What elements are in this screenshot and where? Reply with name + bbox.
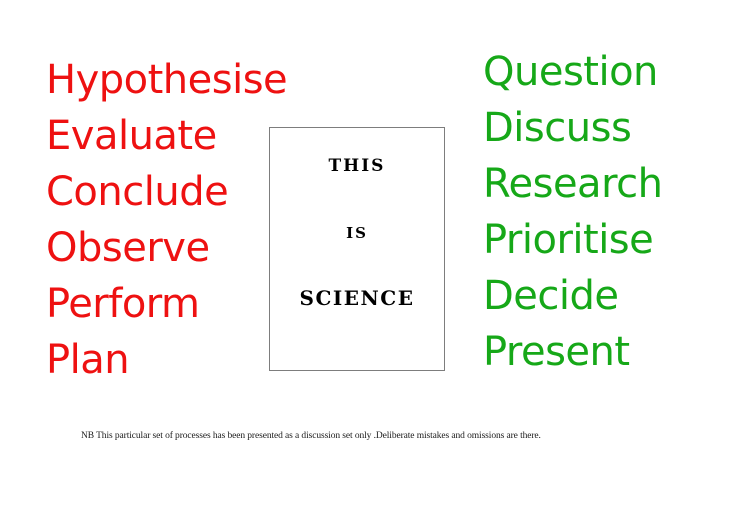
science-box-line-science: SCIENCE [270, 286, 444, 310]
process-word-prioritise: Prioritise [483, 212, 653, 268]
science-box-line-is: IS [270, 224, 444, 242]
process-word-conclude: Conclude [46, 164, 228, 220]
process-word-research: Research [483, 156, 662, 212]
process-word-evaluate: Evaluate [46, 108, 217, 164]
process-word-perform: Perform [46, 276, 200, 332]
process-word-plan: Plan [46, 332, 129, 388]
process-word-hypothesise: Hypothesise [46, 52, 287, 108]
process-word-present: Present [483, 324, 630, 380]
process-word-question: Question [483, 44, 658, 100]
green-process-list: Question Discuss Research Prioritise Dec… [483, 44, 733, 380]
footnote-note: NB This particular set of processes has … [81, 430, 681, 442]
process-word-decide: Decide [483, 268, 619, 324]
science-poster-box: THIS IS SCIENCE [269, 127, 445, 371]
process-word-observe: Observe [46, 220, 210, 276]
science-box-line-this: THIS [270, 156, 444, 176]
process-word-discuss: Discuss [483, 100, 631, 156]
science-process-poster: Hypothesise Evaluate Conclude Observe Pe… [0, 0, 740, 523]
